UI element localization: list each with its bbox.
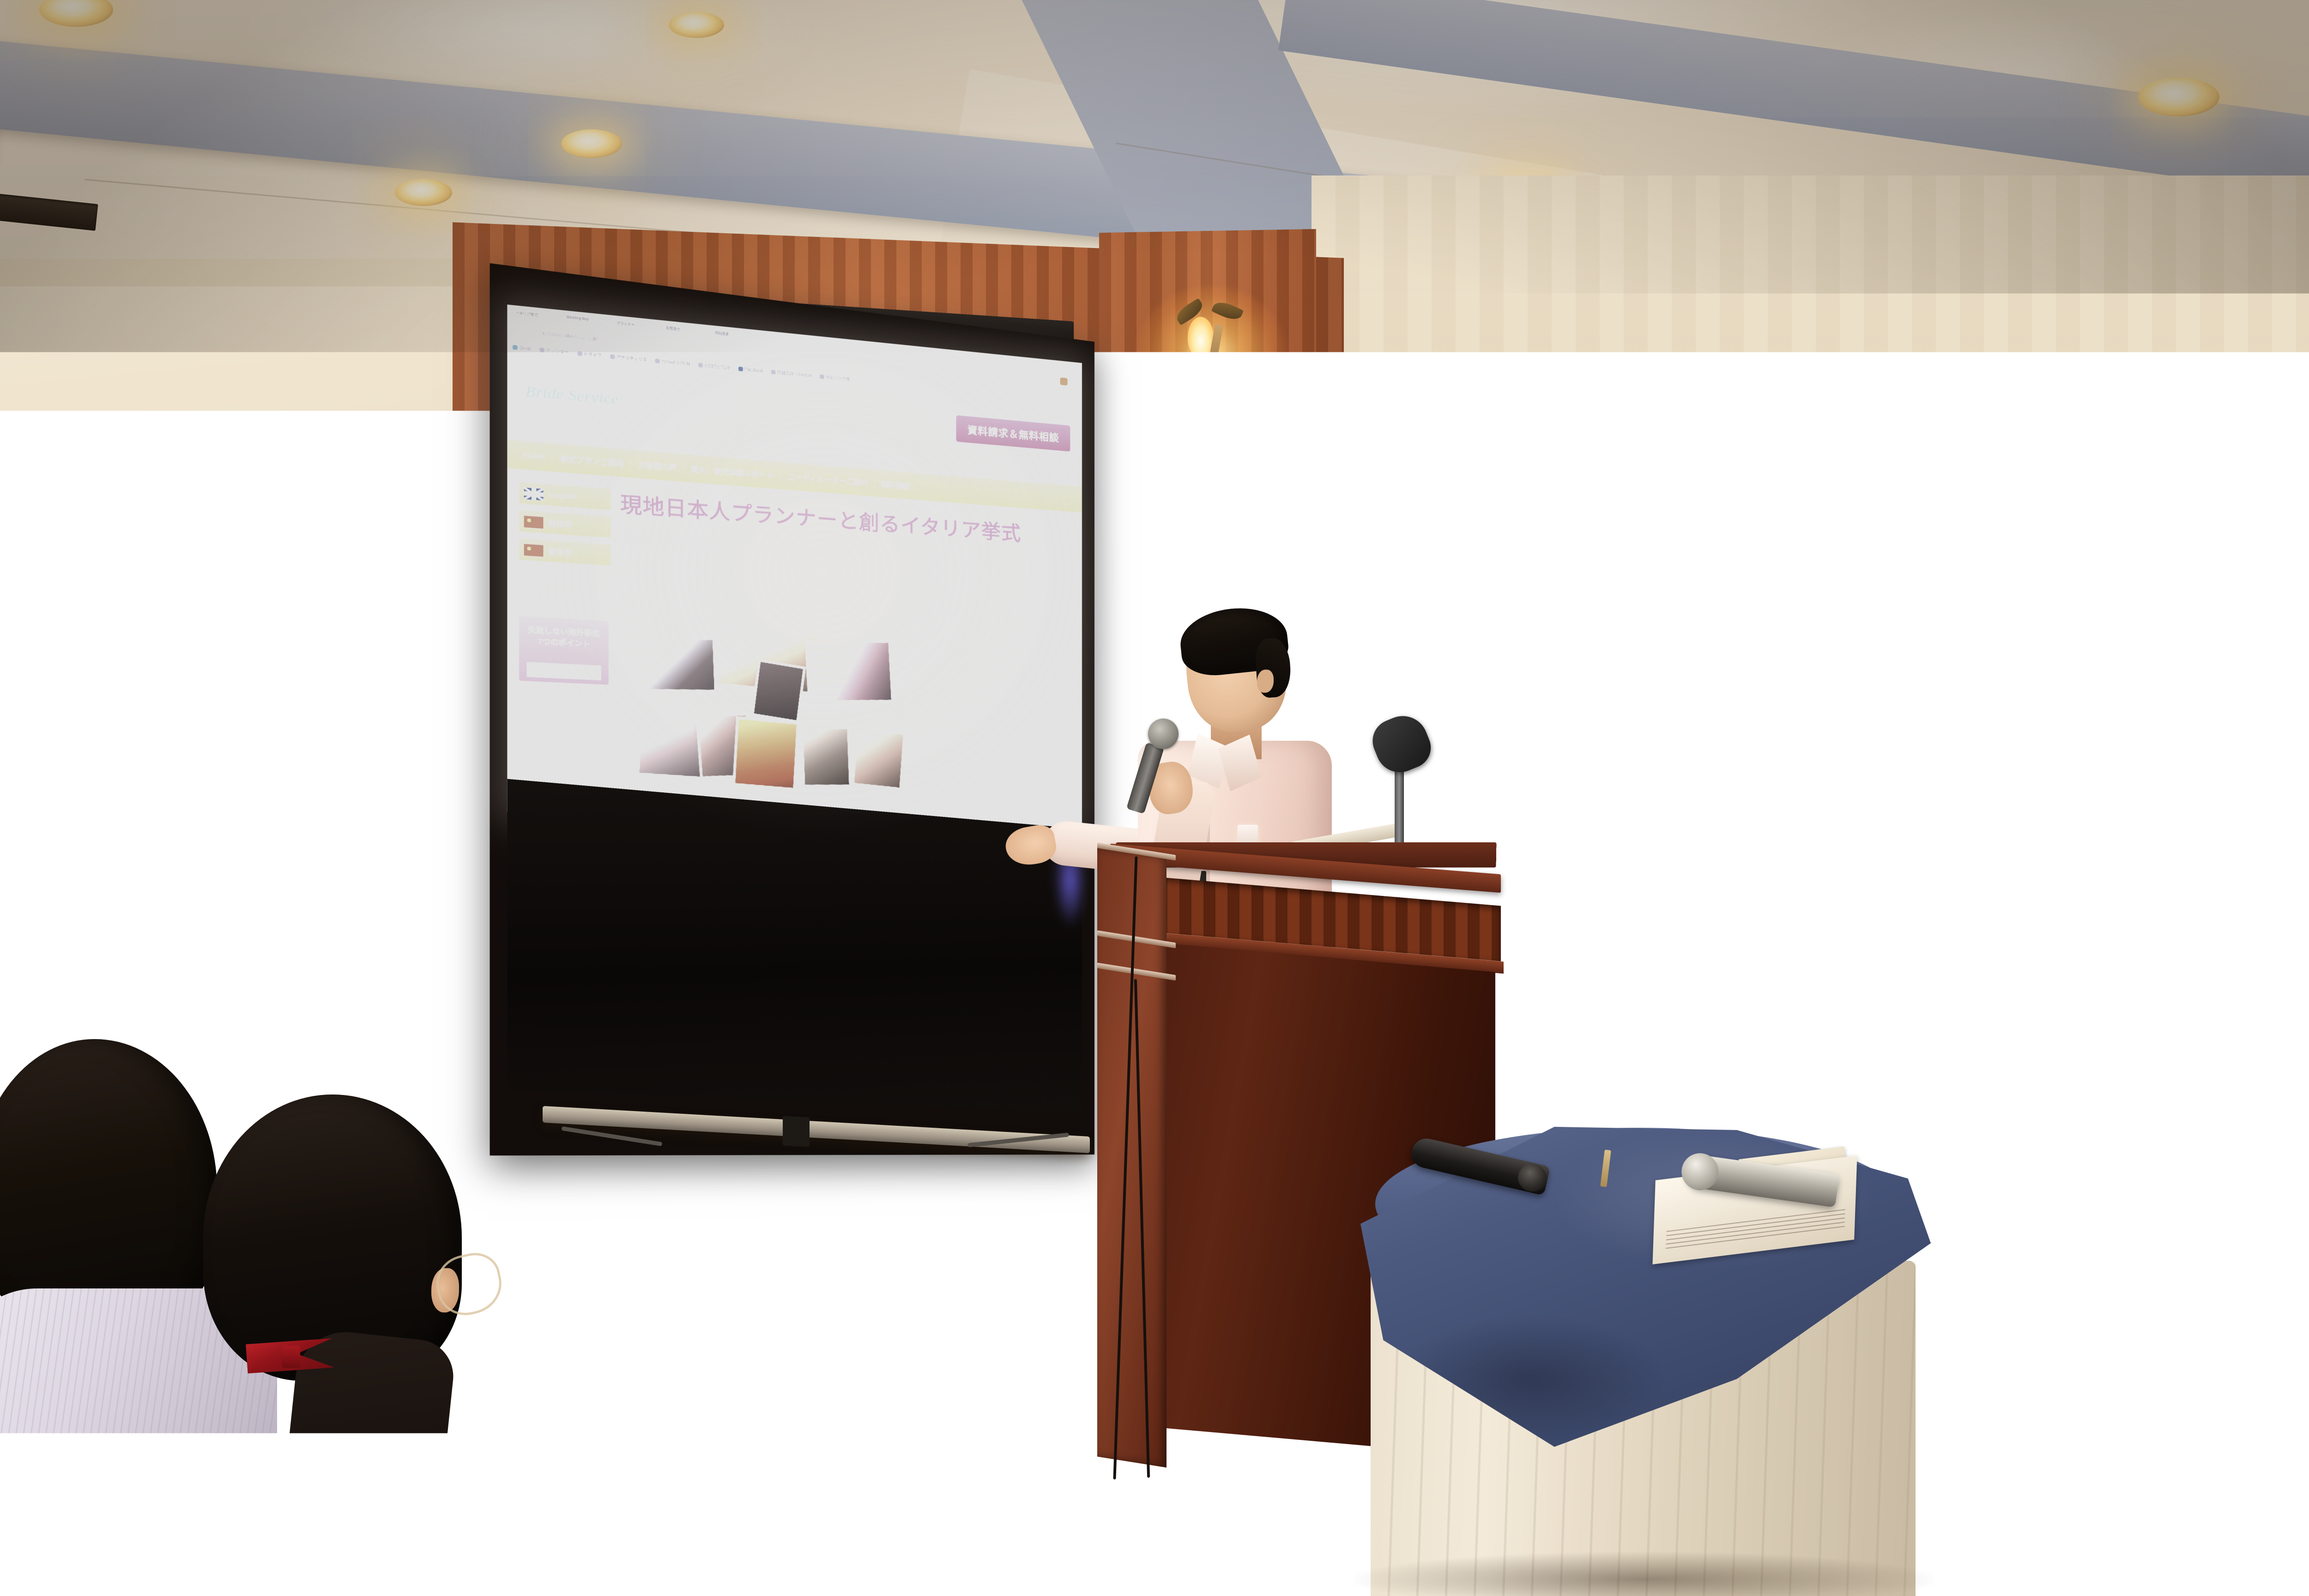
- whiteboard-leg-left: [181, 717, 190, 1012]
- language-label-english: English: [548, 490, 577, 501]
- seven-points-banner[interactable]: 失敗しない海外挙式 7つのポイント: [519, 616, 609, 685]
- bookmark-label-3: ドライブ: [584, 351, 602, 359]
- site-tagline: イタリア現地発・日本人スタッフによるウエディングサポート: [526, 409, 687, 431]
- recessed-downlight-8: [669, 12, 724, 38]
- bookmark-favicon-8: [771, 369, 776, 374]
- language-label-simplified: 簡体字: [548, 518, 572, 530]
- language-selector[interactable]: English 簡体字 繁体字: [519, 482, 610, 573]
- bookmark-label-2: カレンダー: [546, 347, 569, 356]
- bookmark-label-9: 外部リンク集: [826, 374, 851, 382]
- nav-item-home[interactable]: HOME: [515, 450, 554, 462]
- bookmark-favicon-3: [577, 351, 582, 356]
- nav-item-plans-costs[interactable]: 挙式プランと費用: [554, 453, 631, 469]
- bookmark-favicon-2: [540, 347, 544, 352]
- browser-tab-5[interactable]: 資料請求: [712, 327, 759, 346]
- language-label-traditional: 繁体字: [548, 546, 572, 558]
- browser-tab-3[interactable]: プランナー: [614, 317, 662, 336]
- banquet-chair-back-rest[interactable]: [2201, 847, 2301, 1037]
- browser-toolbar-icons[interactable]: [1049, 376, 1078, 387]
- mic-stand-pole: [1395, 762, 1404, 854]
- collage-photo-3[interactable]: [805, 640, 894, 703]
- red-hair-bow-knot: [282, 1346, 300, 1368]
- browser-tab-4[interactable]: お問合せ: [663, 322, 710, 341]
- bookmark-label-1: Gmail: [519, 345, 531, 351]
- uk-flag-icon: [523, 487, 544, 501]
- extension-icon[interactable]: [1060, 377, 1068, 386]
- bookmark-label-6: お問合せ管理: [704, 363, 730, 371]
- water-bottle-cap[interactable]: [2124, 1221, 2145, 1236]
- nav-item-coordinators[interactable]: コーディネーターご紹介: [781, 471, 875, 488]
- cta-request-materials-button[interactable]: 資料請求＆無料相談: [956, 415, 1070, 452]
- collage-photo-9[interactable]: [852, 727, 906, 790]
- panelist-black-outfit-fringe: [1904, 750, 1982, 806]
- sconce-crystals-right: [1181, 387, 1238, 439]
- bookmark-6[interactable]: お問合せ管理: [698, 362, 730, 370]
- projected-website: イタリア挙式 Wedding Italy プランナー お問合せ 資料請求 ← →…: [507, 304, 1082, 827]
- language-button-simplified-chinese[interactable]: 簡体字: [519, 510, 610, 538]
- projected-slide-area: イタリア挙式 Wedding Italy プランナー お問合せ 資料請求 ← →…: [507, 304, 1082, 827]
- nav-item-report[interactable]: 潜入！挙式体験レポート: [684, 463, 781, 481]
- recessed-downlight-3: [395, 179, 452, 206]
- banquet-chair-seat[interactable]: [2188, 1028, 2309, 1082]
- facebook-icon: [738, 366, 743, 371]
- bookmark-favicon-9: [820, 374, 824, 379]
- bookmark-favicon-1: [513, 345, 518, 350]
- table-floor-shadow: [1353, 1552, 1935, 1596]
- bookmark-8[interactable]: 自社管理 - Creator: [771, 369, 812, 378]
- presenter-ear: [1257, 670, 1274, 693]
- website-body: Bride Service イタリア挙式プロデュース イタリア現地発・日本人スタ…: [507, 364, 1082, 827]
- bookmark-label-4: アナリティクス: [617, 354, 647, 363]
- language-button-english[interactable]: English: [519, 482, 610, 510]
- browser-tab-2[interactable]: Wedding Italy: [563, 312, 612, 331]
- nav-item-testimonials[interactable]: お客様の声: [631, 459, 684, 473]
- collage-photo-5[interactable]: [637, 706, 705, 780]
- bookmark-star-icon[interactable]: [1049, 376, 1057, 385]
- points-banner-slot: [526, 662, 601, 680]
- bookmark-favicon-5: [655, 358, 660, 363]
- bookmark-1[interactable]: Gmail: [513, 345, 531, 351]
- site-logo-text: Bride Service: [526, 383, 619, 408]
- banquet-chair-leg-back: [2301, 1070, 2309, 1273]
- bookmark-3[interactable]: ドライブ: [577, 350, 602, 358]
- crystal-wall-sconce-left: [416, 434, 499, 563]
- bookmark-label-8: 自社管理 - Creator: [777, 369, 812, 379]
- bookmark-favicon-6: [698, 363, 703, 368]
- nav-item-consultation[interactable]: 無料相談: [875, 478, 917, 491]
- foreground-audience: [0, 993, 711, 1596]
- bookmark-7[interactable]: Facebook: [738, 366, 763, 374]
- bookmark-2[interactable]: カレンダー: [540, 346, 569, 355]
- collage-photo-1[interactable]: [637, 636, 717, 692]
- sconce-crystals-left: [431, 504, 479, 545]
- china-flag-icon-simplified: [523, 515, 544, 529]
- banquet-chair-rail-lower: [2164, 1150, 2309, 1165]
- free-consultation-note: 無料相談実施中: [521, 581, 585, 597]
- bookmark-4[interactable]: アナリティクス: [610, 353, 647, 363]
- plastic-water-bottle[interactable]: [2122, 1233, 2148, 1325]
- bookmark-5[interactable]: Yahoo! JAPAN: [655, 358, 690, 366]
- collage-photo-8[interactable]: [800, 726, 852, 787]
- site-logo-subtext: イタリア挙式プロデュース: [623, 399, 716, 414]
- panelist-red-dress-arm: [2108, 979, 2191, 1120]
- language-button-traditional-chinese[interactable]: 繁体字: [519, 538, 610, 566]
- collage-photo-7[interactable]: [732, 716, 799, 791]
- seminar-room-photo: イタリア挙式 Wedding Italy プランナー お問合せ 資料請求 ← →…: [0, 0, 2309, 1596]
- handheld-microphone-head[interactable]: [1148, 719, 1179, 749]
- bookmark-9[interactable]: 外部リンク集: [820, 374, 851, 382]
- browser-tab-1[interactable]: イタリア挙式: [513, 307, 562, 326]
- bookmark-favicon-4: [610, 354, 615, 359]
- recessed-downlight-2: [561, 129, 622, 158]
- water-bottle-label: [2121, 1258, 2149, 1270]
- projection-screen-strap-clip: [783, 1116, 810, 1147]
- menu-icon[interactable]: [1071, 379, 1078, 387]
- recessed-downlight-7: [2138, 78, 2219, 116]
- bookmark-label-5: Yahoo! JAPAN: [661, 359, 690, 367]
- china-flag-icon-traditional: [523, 543, 544, 557]
- panelist-red-dress-fringe: [2023, 742, 2110, 801]
- whiteboard-surface[interactable]: [180, 614, 499, 824]
- wedding-photo-collage[interactable]: [617, 601, 1077, 827]
- crystal-wall-sconce-right: [1163, 300, 1264, 462]
- round-cocktail-table: [1335, 1108, 1977, 1596]
- bookmark-label-7: Facebook: [744, 367, 763, 373]
- collage-photo-4[interactable]: [751, 659, 805, 723]
